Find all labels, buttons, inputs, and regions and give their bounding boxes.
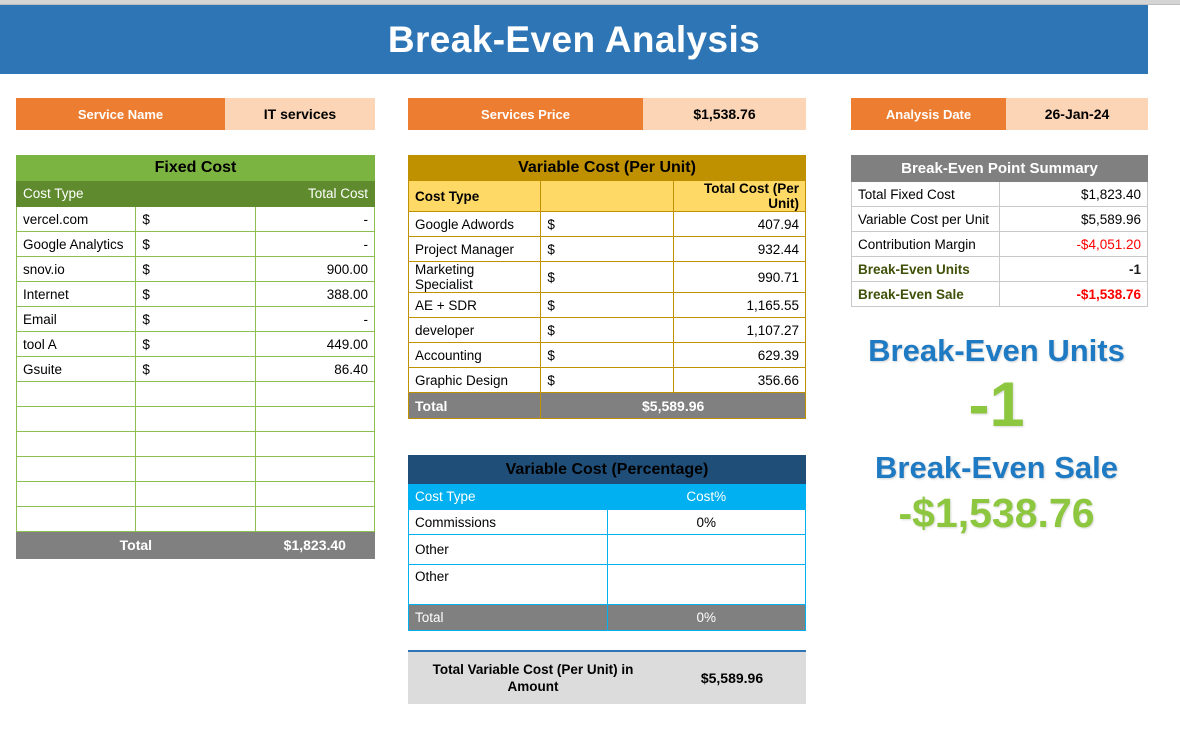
fixed-cost-amount[interactable]: [255, 382, 374, 407]
service-name-value[interactable]: IT services: [225, 98, 375, 130]
table-row[interactable]: AE + SDR $ 1,165.55: [409, 293, 806, 318]
variable-cost-unit-total-label: Total: [409, 393, 541, 419]
table-row[interactable]: Accounting $ 629.39: [409, 343, 806, 368]
fixed-cost-amount[interactable]: -: [255, 232, 374, 257]
fixed-cost-type[interactable]: [17, 482, 136, 507]
variable-cost-unit-amount[interactable]: 1,165.55: [673, 293, 805, 318]
variable-cost-unit-total-row: Total $5,589.96: [409, 393, 806, 419]
table-row: Total Fixed Cost $1,823.40: [852, 182, 1148, 207]
table-row[interactable]: Google Adwords $ 407.94: [409, 212, 806, 237]
fixed-cost-currency: $: [136, 257, 255, 282]
be-summary-label: Contribution Margin: [852, 232, 1000, 257]
fixed-cost-type[interactable]: Google Analytics: [17, 232, 136, 257]
be-summary-value: $1,823.40: [1000, 182, 1148, 207]
table-row[interactable]: Internet $ 388.00: [17, 282, 375, 307]
table-row[interactable]: snov.io $ 900.00: [17, 257, 375, 282]
kpi-block: Break-Even Units -1 Break-Even Sale -$1,…: [845, 335, 1148, 535]
table-row[interactable]: Graphic Design $ 356.66: [409, 368, 806, 393]
fixed-cost-currency: $: [136, 357, 255, 382]
variable-cost-pct-value[interactable]: 0%: [607, 510, 806, 535]
variable-cost-unit-amount[interactable]: 629.39: [673, 343, 805, 368]
variable-cost-unit-type[interactable]: Accounting: [409, 343, 541, 368]
variable-cost-unit-col-total: Total Cost (Per Unit): [673, 181, 805, 212]
fixed-cost-type[interactable]: [17, 432, 136, 457]
fixed-cost-type[interactable]: vercel.com: [17, 207, 136, 232]
kpi-break-even-units-title: Break-Even Units: [845, 335, 1148, 368]
table-row[interactable]: Commissions 0%: [409, 510, 806, 535]
be-summary-label: Total Fixed Cost: [852, 182, 1000, 207]
kpi-break-even-units-value: -1: [845, 372, 1148, 438]
be-summary-caption-row: Break-Even Point Summary: [852, 156, 1148, 182]
be-summary-value: -$4,051.20: [1000, 232, 1148, 257]
variable-cost-unit-currency: $: [541, 318, 673, 343]
variable-cost-pct-caption: Variable Cost (Percentage): [409, 456, 806, 484]
table-row[interactable]: [17, 382, 375, 407]
variable-cost-unit-amount[interactable]: 932.44: [673, 237, 805, 262]
kpi-break-even-sale-title: Break-Even Sale: [845, 452, 1148, 485]
analysis-date-value[interactable]: 26-Jan-24: [1006, 98, 1148, 130]
table-row[interactable]: [17, 457, 375, 482]
fixed-cost-currency: [136, 407, 255, 432]
analysis-date-row: Analysis Date 26-Jan-24: [851, 98, 1148, 130]
be-summary-value: $5,589.96: [1000, 207, 1148, 232]
fixed-cost-amount[interactable]: 86.40: [255, 357, 374, 382]
fixed-cost-col-total: Total Cost: [255, 181, 374, 207]
fixed-cost-currency: $: [136, 282, 255, 307]
variable-cost-pct-type[interactable]: Commissions: [409, 510, 608, 535]
fixed-cost-type[interactable]: [17, 507, 136, 532]
fixed-cost-header-row: Cost Type Total Cost: [17, 181, 375, 207]
fixed-cost-amount[interactable]: [255, 407, 374, 432]
kpi-break-even-sale-value: -$1,538.76: [845, 492, 1148, 535]
fixed-cost-caption: Fixed Cost: [17, 156, 375, 181]
fixed-cost-currency: [136, 507, 255, 532]
table-row[interactable]: vercel.com $ -: [17, 207, 375, 232]
table-row[interactable]: Other: [409, 565, 806, 605]
variable-cost-percentage-table: Variable Cost (Percentage) Cost Type Cos…: [408, 455, 806, 631]
fixed-cost-currency: [136, 457, 255, 482]
variable-cost-unit-header-row: Cost Type Total Cost (Per Unit): [409, 181, 806, 212]
fixed-cost-currency: [136, 432, 255, 457]
breakeven-analysis-page: Break-Even Analysis Service Name IT serv…: [0, 0, 1180, 730]
variable-cost-unit-amount[interactable]: 1,107.27: [673, 318, 805, 343]
be-summary-label: Break-Even Units: [852, 257, 1000, 282]
table-row[interactable]: Other: [409, 535, 806, 565]
total-variable-cost-amount-box: Total Variable Cost (Per Unit) in Amount…: [408, 650, 806, 704]
variable-cost-pct-col-type: Cost Type: [409, 484, 608, 510]
variable-cost-unit-type[interactable]: Project Manager: [409, 237, 541, 262]
fixed-cost-type[interactable]: Gsuite: [17, 357, 136, 382]
table-row: Break-Even Sale -$1,538.76: [852, 282, 1148, 307]
table-row[interactable]: [17, 432, 375, 457]
fixed-cost-amount[interactable]: -: [255, 307, 374, 332]
table-row[interactable]: [17, 407, 375, 432]
variable-cost-unit-table: Variable Cost (Per Unit) Cost Type Total…: [408, 155, 806, 419]
variable-cost-unit-type[interactable]: AE + SDR: [409, 293, 541, 318]
page-title: Break-Even Analysis: [388, 21, 760, 58]
fixed-cost-type[interactable]: [17, 382, 136, 407]
variable-cost-unit-currency: $: [541, 212, 673, 237]
variable-cost-unit-currency: $: [541, 293, 673, 318]
variable-cost-pct-total-label: Total: [409, 605, 608, 631]
variable-cost-pct-col-cost: Cost%: [607, 484, 806, 510]
total-variable-cost-label: Total Variable Cost (Per Unit) in Amount: [408, 661, 658, 695]
variable-cost-pct-header-row: Cost Type Cost%: [409, 484, 806, 510]
table-row[interactable]: [17, 482, 375, 507]
fixed-cost-currency: $: [136, 332, 255, 357]
fixed-cost-currency: $: [136, 232, 255, 257]
table-row[interactable]: developer $ 1,107.27: [409, 318, 806, 343]
table-row[interactable]: Email $ -: [17, 307, 375, 332]
variable-cost-unit-amount[interactable]: 356.66: [673, 368, 805, 393]
fixed-cost-amount[interactable]: [255, 457, 374, 482]
total-variable-cost-value: $5,589.96: [658, 670, 806, 686]
fixed-cost-amount[interactable]: [255, 432, 374, 457]
variable-cost-unit-col-type: Cost Type: [409, 181, 541, 212]
variable-cost-pct-value[interactable]: [607, 565, 806, 605]
variable-cost-unit-amount[interactable]: 407.94: [673, 212, 805, 237]
table-row[interactable]: [17, 507, 375, 532]
table-row: Break-Even Units -1: [852, 257, 1148, 282]
fixed-cost-currency: [136, 382, 255, 407]
variable-cost-pct-value[interactable]: [607, 535, 806, 565]
variable-cost-unit-total-value: $5,589.96: [541, 393, 806, 419]
fixed-cost-currency: $: [136, 307, 255, 332]
service-name-label: Service Name: [16, 98, 225, 130]
variable-cost-unit-type[interactable]: Marketing Specialist: [409, 262, 541, 293]
fixed-cost-amount[interactable]: 449.00: [255, 332, 374, 357]
fixed-cost-amount[interactable]: 388.00: [255, 282, 374, 307]
variable-cost-unit-col-spacer: [541, 181, 673, 212]
variable-cost-pct-total-row: Total 0%: [409, 605, 806, 631]
table-row[interactable]: tool A $ 449.00: [17, 332, 375, 357]
variable-cost-unit-currency: $: [541, 262, 673, 293]
service-name-row: Service Name IT services: [16, 98, 375, 130]
table-row: Contribution Margin -$4,051.20: [852, 232, 1148, 257]
be-summary-value: -$1,538.76: [1000, 282, 1148, 307]
variable-cost-pct-total-value: 0%: [607, 605, 806, 631]
fixed-cost-total-label: Total: [17, 532, 256, 559]
table-row[interactable]: Gsuite $ 86.40: [17, 357, 375, 382]
analysis-date-label: Analysis Date: [851, 98, 1006, 130]
fixed-cost-type[interactable]: Internet: [17, 282, 136, 307]
fixed-cost-type[interactable]: snov.io: [17, 257, 136, 282]
variable-cost-unit-type[interactable]: Graphic Design: [409, 368, 541, 393]
fixed-cost-amount[interactable]: 900.00: [255, 257, 374, 282]
table-row: Variable Cost per Unit $5,589.96: [852, 207, 1148, 232]
break-even-point-summary-table: Break-Even Point Summary Total Fixed Cos…: [851, 155, 1148, 307]
fixed-cost-amount[interactable]: [255, 507, 374, 532]
variable-cost-pct-caption-row: Variable Cost (Percentage): [409, 456, 806, 484]
variable-cost-pct-type[interactable]: Other: [409, 535, 608, 565]
fixed-cost-type[interactable]: tool A: [17, 332, 136, 357]
variable-cost-unit-currency: $: [541, 368, 673, 393]
variable-cost-unit-type[interactable]: Google Adwords: [409, 212, 541, 237]
fixed-cost-col-spacer: [136, 181, 255, 207]
variable-cost-pct-type[interactable]: Other: [409, 565, 608, 605]
be-summary-label: Variable Cost per Unit: [852, 207, 1000, 232]
be-summary-value: -1: [1000, 257, 1148, 282]
be-summary-label: Break-Even Sale: [852, 282, 1000, 307]
fixed-cost-total-row: Total $1,823.40: [17, 532, 375, 559]
variable-cost-unit-amount[interactable]: 990.71: [673, 262, 805, 293]
page-title-banner: Break-Even Analysis: [0, 5, 1148, 74]
table-row[interactable]: Marketing Specialist $ 990.71: [409, 262, 806, 293]
variable-cost-unit-caption-row: Variable Cost (Per Unit): [409, 156, 806, 181]
fixed-cost-type[interactable]: Email: [17, 307, 136, 332]
fixed-cost-currency: [136, 482, 255, 507]
table-row[interactable]: Project Manager $ 932.44: [409, 237, 806, 262]
fixed-cost-currency: $: [136, 207, 255, 232]
table-row[interactable]: Google Analytics $ -: [17, 232, 375, 257]
fixed-cost-table: Fixed Cost Cost Type Total Cost vercel.c…: [16, 155, 375, 559]
services-price-value[interactable]: $1,538.76: [643, 98, 806, 130]
fixed-cost-caption-row: Fixed Cost: [17, 156, 375, 181]
services-price-row: Services Price $1,538.76: [408, 98, 806, 130]
variable-cost-unit-currency: $: [541, 343, 673, 368]
variable-cost-unit-type[interactable]: developer: [409, 318, 541, 343]
services-price-label: Services Price: [408, 98, 643, 130]
fixed-cost-total-value: $1,823.40: [255, 532, 374, 559]
fixed-cost-col-type: Cost Type: [17, 181, 136, 207]
fixed-cost-amount[interactable]: -: [255, 207, 374, 232]
fixed-cost-type[interactable]: [17, 407, 136, 432]
fixed-cost-amount[interactable]: [255, 482, 374, 507]
fixed-cost-type[interactable]: [17, 457, 136, 482]
variable-cost-unit-caption: Variable Cost (Per Unit): [409, 156, 806, 181]
variable-cost-unit-currency: $: [541, 237, 673, 262]
be-summary-caption: Break-Even Point Summary: [852, 156, 1148, 182]
